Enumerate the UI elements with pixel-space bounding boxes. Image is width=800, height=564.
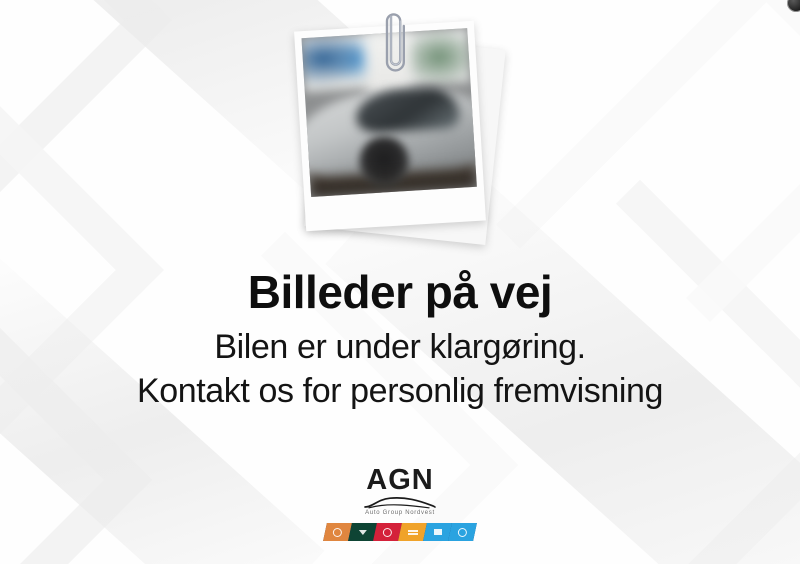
close-button-partial[interactable] [787,0,800,12]
audi-bar-icon [408,529,418,535]
brand-badge-strip [323,523,477,541]
logo-wordmark: AGN [366,466,433,495]
volkswagen-commercial-ring-icon [458,528,467,537]
volkswagen-ring-icon [333,528,342,537]
paperclip-icon [380,12,410,78]
brand-badge-volkswagen-commercial[interactable] [448,523,477,541]
skoda-ring-icon [383,528,392,537]
subtitle-line-1: Bilen er under klargøring. [0,326,800,370]
car-silhouette-icon [363,496,437,509]
image-placeholder-canvas: Billeder på vej Bilen er under klargørin… [0,0,800,564]
agn-logo: AGN Auto Group Nordvest [0,466,800,541]
chevron-band [0,0,172,232]
subtitle-block: Bilen er under klargøring. Kontakt os fo… [0,326,800,413]
message-block: Billeder på vej Bilen er under klargørin… [0,268,800,413]
cupra-cap-icon [359,530,367,535]
subtitle-line-2: Kontakt os for personlig fremvisning [0,370,800,414]
page-title: Billeder på vej [0,268,800,316]
polaroid-photo-stack [292,14,508,254]
seat-square-icon [434,529,442,535]
logo-tagline: Auto Group Nordvest [365,510,435,516]
